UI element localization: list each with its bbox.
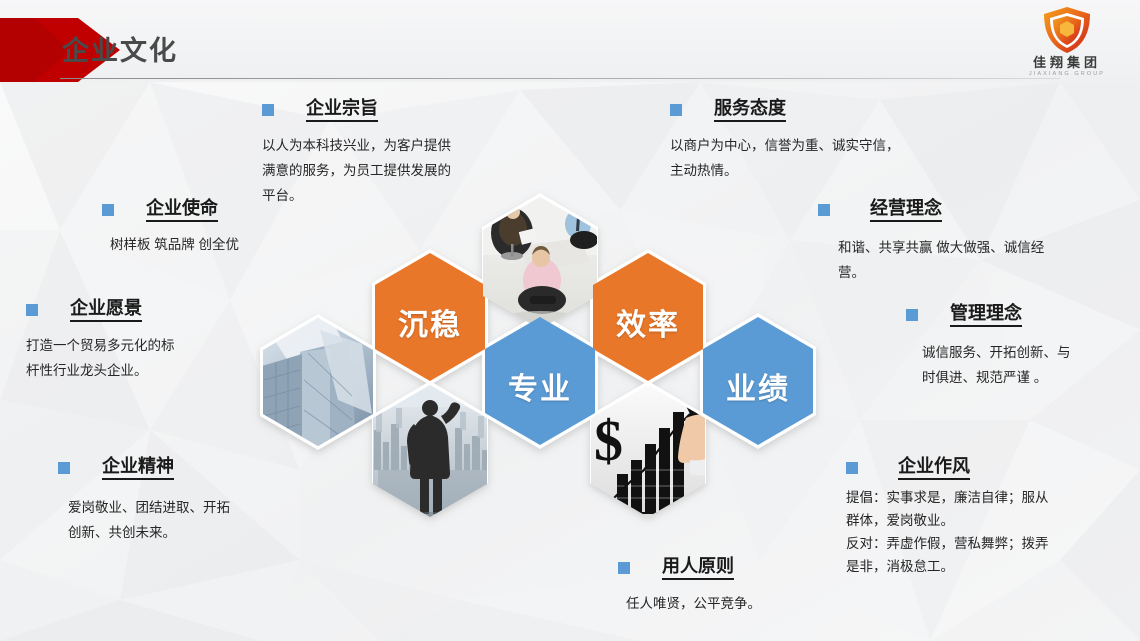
block-body: 提倡：实事求是，廉洁自律；服从 群体，爱岗敬业。 反对：弄虚作假，营私舞弊；拨弄… <box>846 486 1126 579</box>
block-body: 爱岗敬业、团结进取、开拓 创新、共创未来。 <box>68 496 308 546</box>
block-guanli-linian: 管理理念 诚信服务、开拓创新、与 时俱进、规范严谨 。 <box>906 303 1136 391</box>
company-logo: 佳翔集团 JIAXIANG GROUP <box>1012 4 1122 80</box>
bullet-square-icon <box>58 462 70 474</box>
logo-name-en: JIAXIANG GROUP <box>1012 72 1122 78</box>
block-qiye-shiming: 企业使命 树样板 筑品牌 创全优 <box>102 198 332 258</box>
bullet-square-icon <box>906 309 918 321</box>
block-qiye-zongzhi: 企业宗旨 以人为本科技兴业，为客户提供 满意的服务，为员工提供发展的 平台。 <box>262 98 518 209</box>
block-title: 企业作风 <box>898 456 970 480</box>
bullet-square-icon <box>26 304 38 316</box>
shield-icon <box>1041 6 1093 54</box>
bullet-square-icon <box>618 562 630 574</box>
block-title: 企业使命 <box>146 198 218 222</box>
block-yongren-yuanze: 用人原则 任人唯贤，公平竞争。 <box>618 556 868 617</box>
block-header: 企业使命 <box>102 198 332 222</box>
bullet-square-icon <box>262 104 274 116</box>
block-fuwu-taidu: 服务态度 以商户为中心，信誉为重、诚实守信， 主动热情。 <box>670 98 970 184</box>
block-header: 企业愿景 <box>26 298 252 322</box>
block-body: 树样板 筑品牌 创全优 <box>110 233 332 258</box>
block-title: 管理理念 <box>950 303 1022 327</box>
block-title: 企业宗旨 <box>306 98 378 122</box>
logo-name-cn: 佳翔集团 <box>1012 56 1122 69</box>
block-header: 管理理念 <box>906 303 1136 327</box>
block-header: 服务态度 <box>670 98 970 122</box>
block-header: 企业精神 <box>58 456 308 480</box>
bullet-square-icon <box>818 204 830 216</box>
block-header: 企业宗旨 <box>262 98 518 122</box>
title-underline-rule <box>60 78 1060 79</box>
bullet-square-icon <box>102 204 114 216</box>
block-qiye-jingshen: 企业精神 爱岗敬业、团结进取、开拓 创新、共创未来。 <box>58 456 308 546</box>
block-header: 用人原则 <box>618 556 868 580</box>
block-body: 以商户为中心，信誉为重、诚实守信， 主动热情。 <box>670 134 970 184</box>
block-qiye-yuanjing: 企业愿景 打造一个贸易多元化的标 杆性行业龙头企业。 <box>26 298 252 384</box>
bullet-square-icon <box>670 104 682 116</box>
block-title: 企业精神 <box>102 456 174 480</box>
block-title: 企业愿景 <box>70 298 142 322</box>
block-title: 经营理念 <box>870 198 942 222</box>
slide-canvas: 企业文化 佳翔集团 JIAXIANG GROUP <box>0 0 1140 641</box>
block-body: 诚信服务、开拓创新、与 时俱进、规范严谨 。 <box>922 341 1136 391</box>
block-qiye-zuofeng: 企业作风 提倡：实事求是，廉洁自律；服从 群体，爱岗敬业。 反对：弄虚作假，营私… <box>846 456 1126 579</box>
block-title: 服务态度 <box>714 98 786 122</box>
bullet-square-icon <box>846 462 858 474</box>
block-body: 打造一个贸易多元化的标 杆性行业龙头企业。 <box>26 334 252 384</box>
block-body: 任人唯贤，公平竞争。 <box>626 592 868 617</box>
block-title: 用人原则 <box>662 556 734 580</box>
block-body: 和谐、共享共赢 做大做强、诚信经 营。 <box>838 236 1108 286</box>
block-header: 企业作风 <box>846 456 1126 480</box>
block-jingying-linian: 经营理念 和谐、共享共赢 做大做强、诚信经 营。 <box>818 198 1108 286</box>
page-title: 企业文化 <box>62 38 178 65</box>
block-header: 经营理念 <box>818 198 1108 222</box>
